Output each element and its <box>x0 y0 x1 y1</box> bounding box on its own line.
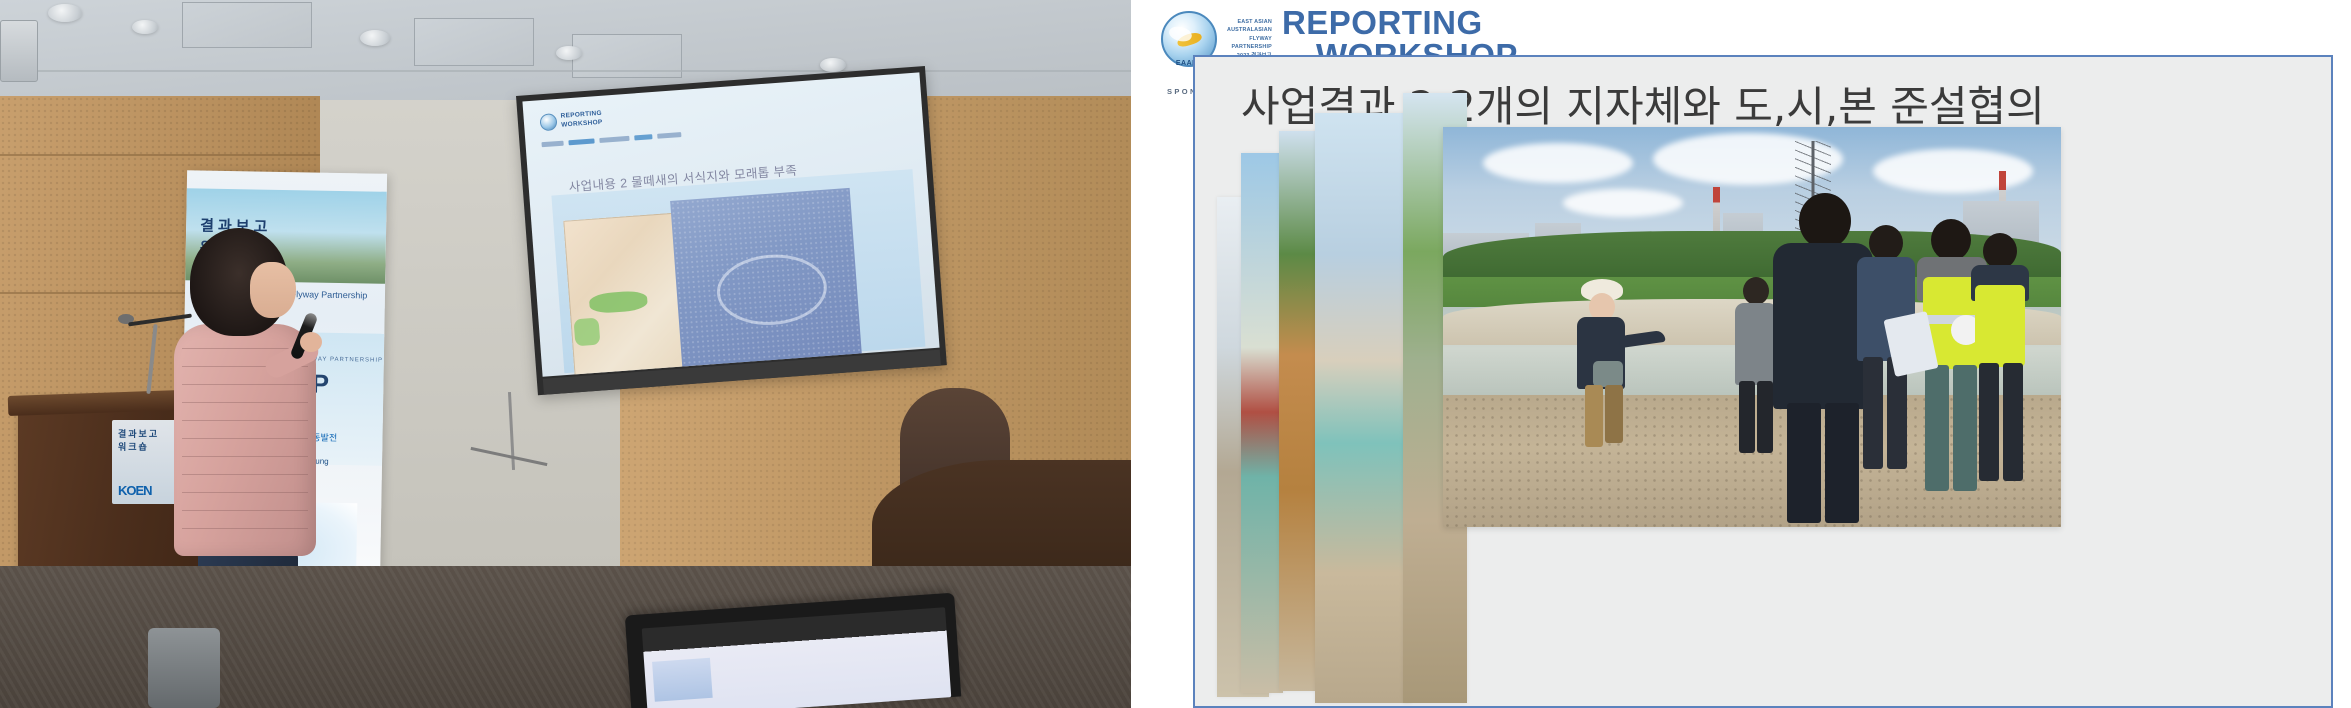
wall-speaker <box>0 20 38 82</box>
eaafp-globe-icon <box>539 113 557 131</box>
person-in-vest-right <box>1971 233 2033 509</box>
screenshot-root: REPORTING WORKSHOP 사업내용 2 물떼새의 서식지와 모래톱 … <box>0 0 2351 708</box>
presenter-face <box>250 262 296 318</box>
ceiling-downlight <box>820 58 846 72</box>
ceiling-panel <box>414 18 534 66</box>
projection-surface: REPORTING WORKSHOP 사업내용 2 물떼새의 서식지와 모래톱 … <box>522 72 939 376</box>
ceiling-seam <box>0 70 1131 72</box>
ceiling-downlight <box>132 20 158 34</box>
ceiling-downlight <box>556 46 582 60</box>
ceiling-panel <box>182 2 312 48</box>
ceiling-downlight <box>360 30 390 46</box>
projected-logo-line2: WORKSHOP <box>561 118 603 128</box>
photo-strip <box>1241 153 1283 693</box>
projected-map-satellite <box>670 188 863 377</box>
site-photo-strip-collage <box>1217 153 1467 708</box>
ceiling-downlight <box>48 4 82 22</box>
laptop-screen <box>642 607 952 708</box>
projection-screen: REPORTING WORKSHOP 사업내용 2 물떼새의 서식지와 모래톱 … <box>516 66 947 395</box>
header-fine-print: EAST ASIAN AUSTRALASIAN FLYWAY PARTNERSH… <box>1227 18 1272 60</box>
presentation-room-photo: REPORTING WORKSHOP 사업내용 2 물떼새의 서식지와 모래톱 … <box>0 0 1131 708</box>
laptop-slide-thumbnail <box>652 658 713 702</box>
projected-slide-body <box>551 169 925 373</box>
podium-korean-line2: 워크숍 <box>118 442 149 452</box>
person-pointing <box>1571 279 1641 459</box>
waste-bin <box>148 628 220 708</box>
photo-strip <box>1315 113 1411 703</box>
podium-koen-logo: KOEN <box>118 483 152 498</box>
header-title-line1: REPORTING <box>1282 4 1483 41</box>
presenter-jacket-quilting <box>182 348 308 548</box>
slide-content-box: 사업결과 2 2개의 지자체와 도,시,본 준설협의 <box>1193 55 2333 708</box>
podium-korean-line1: 결과보고 <box>118 429 159 439</box>
projected-slide-sponsors <box>541 132 681 147</box>
presenter-hand <box>300 332 322 352</box>
projected-slide-logo: REPORTING WORKSHOP <box>539 110 602 132</box>
presentation-slide-panel: EAAFP EAST ASIAN AUSTRALASIAN FLYWAY PAR… <box>1131 0 2351 708</box>
riverbank-site-inspection-photo <box>1443 127 2061 527</box>
photo-strip <box>1279 131 1319 691</box>
